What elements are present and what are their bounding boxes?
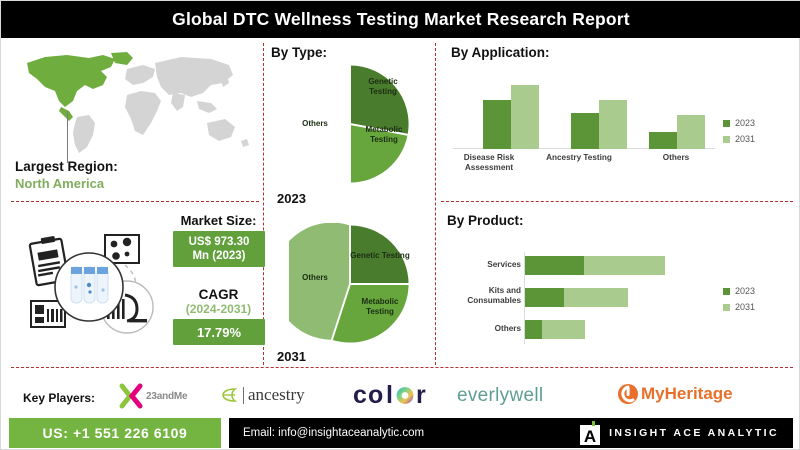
pie-chart-2023 [289,63,411,185]
map-region-australia [207,119,235,141]
category-label-others-app-text: Others [663,153,689,162]
pie-slice-genetic-2023 [350,65,409,134]
row-label-others-prod-text: Others [495,324,521,333]
legend-swatch-2031-app [723,136,730,143]
logo-color: c o l r [353,381,441,409]
key-players-label: Key Players: [23,391,95,405]
row-label-others-prod: Others [453,324,521,334]
hbar-others-2031 [542,320,585,339]
world-map-svg [15,49,255,159]
legend-item-2023-prod: 2023 [723,286,755,296]
by-application-title: By Application: [451,45,550,60]
market-size-value-box: US$ 973.30 Mn (2023) [173,231,265,267]
map-region-new-zealand [241,139,249,147]
svg-text:o: o [368,381,383,409]
legend-item-2031-app: 2031 [723,134,755,144]
infographic-page: Global DTC Wellness Testing Market Resea… [0,0,800,450]
category-label-others-app: Others [641,153,711,163]
by-application-legend: 2023 2031 [723,118,755,150]
map-region-southeast-asia [197,101,217,113]
map-region-europe [125,65,155,85]
divider-vertical-left [263,43,264,365]
header-bar: Global DTC Wellness Testing Market Resea… [1,1,800,38]
lab-illustration-svg [17,229,172,349]
divider-horizontal-bottom [11,367,793,368]
legend-label-2031-prod: 2031 [735,302,755,312]
test-tubes-icon [55,253,123,321]
map-leader-line [67,111,68,163]
bar-ancestry-2031 [599,100,627,149]
category-label-disease-risk: Disease Risk Assessment [449,153,529,173]
map-region-africa [125,91,161,135]
row-label-services: Services [453,260,521,270]
footer-bar: Email: info@insightaceanalytic.com A INS… [229,418,793,448]
market-size-title: Market Size: [171,213,266,228]
svg-text:r: r [416,381,426,409]
divider-horizontal-left [11,201,259,202]
footer-phone-block: US: +1 551 226 6109 [9,418,221,448]
legend-label-2023-app: 2023 [735,118,755,128]
map-region-north-america [27,55,115,107]
cagr-value: 17.79% [197,325,241,340]
by-product-legend: 2023 2031 [723,286,755,318]
category-label-disease-risk-text: Disease Risk Assessment [464,153,515,172]
pie-year-2031: 2031 [277,349,306,364]
bar-disease-risk-2031 [511,85,539,149]
logo-ancestry-divider [243,387,244,404]
divider-vertical-right [435,43,436,365]
footer-brand-text: INSIGHT ACE ANALYTIC [609,427,779,439]
legend-label-2031-app: 2031 [735,134,755,144]
largest-region-label: Largest Region: [15,159,118,174]
logo-everlywell-text: everlywell [457,385,543,407]
svg-text:A: A [584,427,596,445]
map-region-india [171,93,185,111]
map-region-asia [155,57,233,97]
world-map [15,49,255,159]
bar-others-2023 [649,132,677,149]
row-label-kits: Kits and Consumables [449,286,521,306]
map-region-central-america [59,107,73,121]
logo-color-icon: c o l r [353,381,441,409]
hbar-services-2031 [584,256,665,275]
logo-23andme-icon [119,383,145,409]
logo-myheritage: MyHeritage [617,383,733,405]
footer-brand: A INSIGHT ACE ANALYTIC [580,418,779,448]
map-region-south-america [73,115,95,153]
hbar-others-2023 [525,320,542,339]
legend-label-2023-prod: 2023 [735,286,755,296]
divider-horizontal-right [441,201,793,202]
svg-text:c: c [353,381,367,409]
logo-myheritage-text: MyHeritage [641,384,733,404]
legend-swatch-2031-prod [723,304,730,311]
legend-swatch-2023-app [723,120,730,127]
bar-ancestry-2023 [571,113,599,149]
pie-chart-2031 [289,223,411,345]
market-size-value-line2: Mn (2023) [192,249,245,263]
map-region-greenland [111,52,133,65]
pie-year-2023: 2023 [277,191,306,206]
bar-others-2031 [677,115,705,149]
cagr-title: CAGR [171,287,266,302]
row-label-kits-text: Kits and Consumables [467,286,521,305]
category-label-ancestry-text: Ancestry Testing [546,153,612,162]
category-label-ancestry: Ancestry Testing [536,153,622,163]
logo-everlywell: everlywell [457,385,543,407]
logo-23andme: 23andMe [119,383,187,409]
cagr-value-box: 17.79% [173,319,265,345]
legend-swatch-2023-prod [723,288,730,295]
hbar-kits-2023 [525,288,564,307]
insight-ace-logo-icon: A [580,421,600,445]
largest-region-value: North America [15,176,104,191]
by-type-title: By Type: [271,45,327,60]
by-product-title: By Product: [447,213,524,228]
footer-email-text: Email: info@insightaceanalytic.com [243,418,424,448]
petri-dish-icon [105,235,139,263]
logo-myheritage-icon [617,383,639,405]
logo-ancestry-text: ancestry [248,385,305,405]
row-label-services-text: Services [487,260,521,269]
lab-illustration [17,229,172,349]
svg-text:l: l [386,381,393,409]
cagr-years: (2024-2031) [171,302,266,316]
bar-disease-risk-2023 [483,100,511,149]
legend-item-2031-prod: 2031 [723,302,755,312]
by-application-chart [453,63,715,149]
logo-ancestry-icon [219,385,239,405]
market-size-value-line1: US$ 973.30 [189,235,250,249]
page-title: Global DTC Wellness Testing Market Resea… [1,1,800,38]
logo-23andme-text: 23andMe [146,391,187,402]
hbar-kits-2031 [564,288,628,307]
footer-phone-text: US: +1 551 226 6109 [43,425,188,441]
logo-ancestry: ancestry [219,385,305,405]
legend-item-2023-app: 2023 [723,118,755,128]
hbar-services-2023 [525,256,584,275]
pie-slice-genetic-2031 [350,225,409,284]
